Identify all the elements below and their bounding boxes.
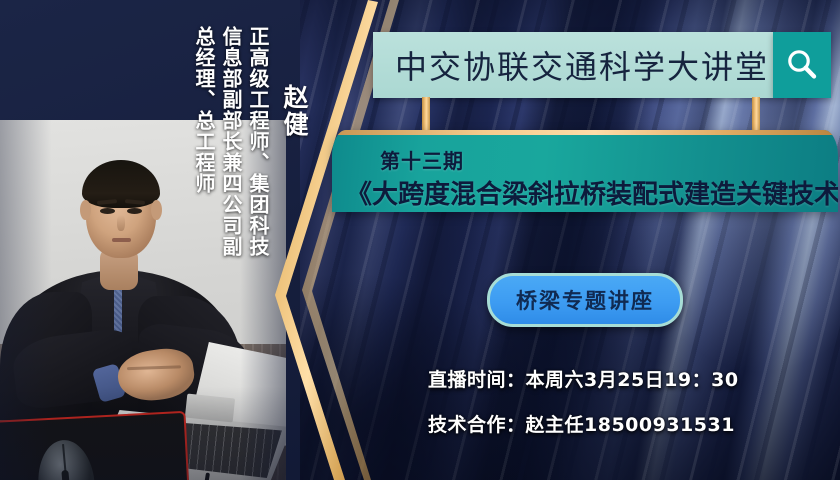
header-title: 中交协联交通科学大讲堂 — [373, 42, 769, 88]
search-button[interactable] — [773, 32, 831, 98]
lecture-title: 《大跨度混合梁斜拉桥装配式建造关键技术》 — [346, 174, 838, 211]
contact-text: 技术合作：赵主任18500931531 — [428, 410, 735, 437]
speaker-title-line-3: 总经理、总工程师 — [194, 26, 214, 194]
gold-bar-right — [752, 97, 760, 133]
subtitle-banner: 第十三期 《大跨度混合梁斜拉桥装配式建造关键技术》 — [332, 130, 838, 212]
photo-vignette — [0, 120, 286, 480]
speaker-name: 赵健 — [282, 84, 307, 138]
live-time-text: 直播时间：本周六3月25日19：30 — [428, 365, 739, 392]
gold-bar-left — [422, 97, 430, 133]
speaker-photo — [0, 120, 286, 480]
header-bar: 中交协联交通科学大讲堂 — [373, 32, 773, 98]
topic-pill-button[interactable]: 桥梁专题讲座 — [487, 273, 683, 327]
speaker-title-line-2: 信息部副部长兼四公司副 — [221, 26, 241, 257]
speaker-title-line-1: 正高级工程师、集团科技 — [248, 26, 268, 257]
issue-number: 第十三期 — [380, 145, 464, 174]
webinar-poster: 赵健 正高级工程师、集团科技 信息部副部长兼四公司副 总经理、总工程师 中交协联… — [0, 0, 840, 480]
search-icon — [785, 48, 819, 82]
